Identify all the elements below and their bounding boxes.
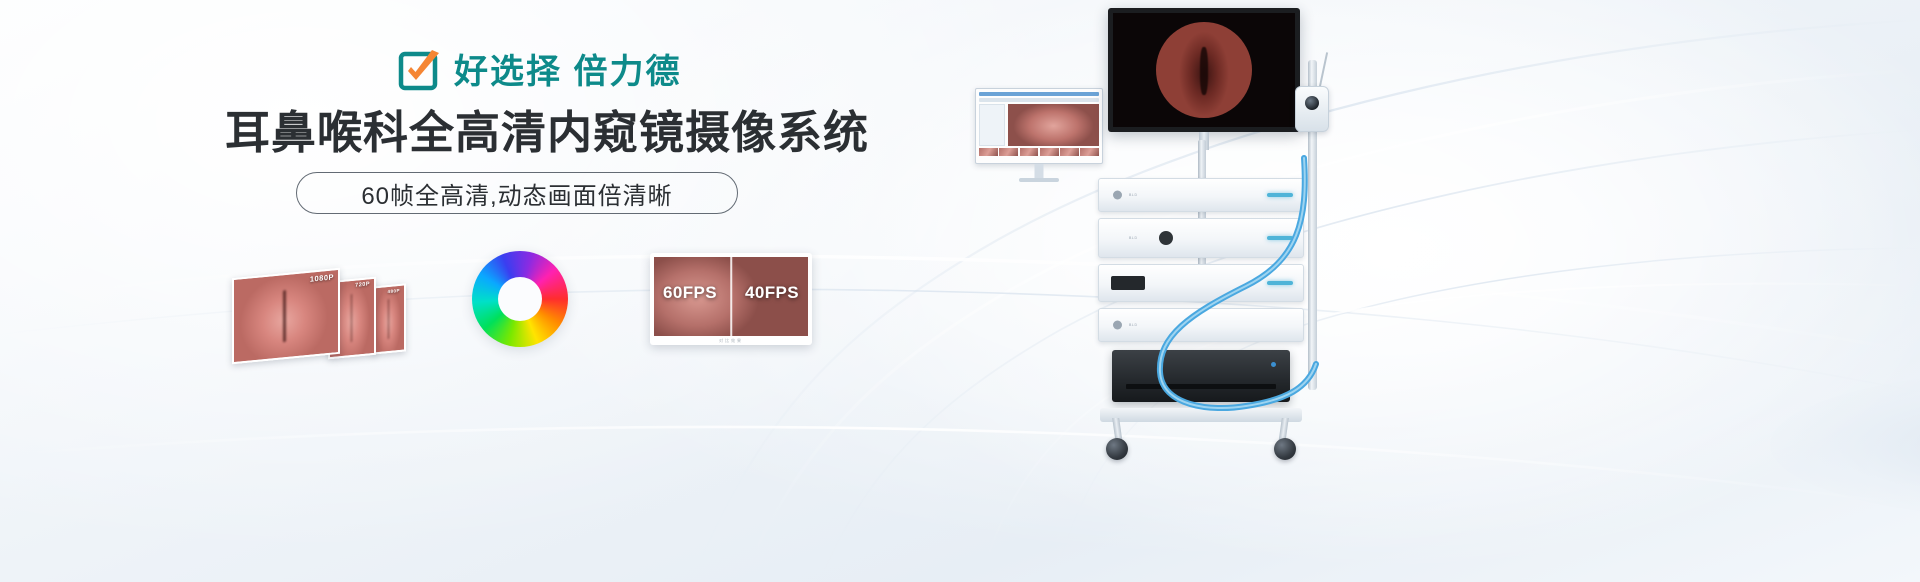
feature-pill-badge: 60帧全高清,动态画面倍清晰 bbox=[296, 172, 738, 214]
feature-frame-rate: 60FPS 40FPS 对比效果 bbox=[650, 253, 812, 353]
thumbnail bbox=[979, 148, 998, 156]
feature-pill-text: 60帧全高清,动态画面倍清晰 bbox=[361, 176, 672, 211]
feature-row: 480P 720P 1080P 60FPS bbox=[0, 245, 900, 395]
floor-reflection bbox=[1770, 370, 1920, 520]
display-bezel bbox=[1108, 8, 1300, 132]
main-display bbox=[1108, 8, 1300, 132]
color-wheel-icon bbox=[472, 251, 568, 347]
fiber-cable-icon bbox=[1040, 150, 1370, 450]
endoscopy-thumbnail bbox=[234, 270, 338, 362]
product-image: BLD BLD BLD bbox=[940, 0, 1920, 582]
fps-label-right: 40FPS bbox=[745, 283, 799, 303]
camera-head-icon bbox=[1295, 86, 1329, 132]
page-title: 耳鼻喉科全高清内窥镜摄像系统 bbox=[225, 108, 875, 158]
checkbox-check-icon bbox=[398, 50, 442, 94]
workstation-toolbar bbox=[979, 98, 1099, 102]
workstation-titlebar bbox=[979, 92, 1099, 96]
endoscope-view-icon bbox=[1156, 22, 1252, 118]
fps-compare-monitor: 60FPS 40FPS 对比效果 bbox=[650, 253, 812, 345]
product-banner: 好选择 倍力德 耳鼻喉科全高清内窥镜摄像系统 60帧全高清,动态画面倍清晰 48… bbox=[0, 0, 1920, 582]
fps-label-left: 60FPS bbox=[663, 283, 717, 303]
workstation-sidebar bbox=[979, 104, 1005, 146]
endoscopy-thumbnail bbox=[374, 286, 404, 353]
brand-tagline: 好选择 倍力德 bbox=[454, 55, 681, 89]
fps-compare-footer: 对比效果 bbox=[650, 338, 812, 344]
brand-lockup: 好选择 倍力德 bbox=[398, 50, 681, 94]
feature-color-gamut bbox=[472, 251, 568, 347]
thumbnail bbox=[999, 148, 1018, 156]
display-screen bbox=[1113, 13, 1295, 127]
fps-compare-screen: 60FPS 40FPS bbox=[654, 257, 808, 336]
headline-block: 好选择 倍力德 耳鼻喉科全高清内窥镜摄像系统 60帧全高清,动态画面倍清晰 48… bbox=[0, 0, 900, 582]
thumbnail bbox=[1020, 148, 1039, 156]
workstation-preview bbox=[1008, 104, 1099, 146]
workstation-body bbox=[979, 104, 1099, 146]
feature-resolution-stack: 480P 720P 1080P bbox=[232, 255, 407, 365]
resolution-panel-1080p: 1080P bbox=[232, 268, 340, 364]
resolution-panel-480p: 480P bbox=[372, 283, 406, 354]
